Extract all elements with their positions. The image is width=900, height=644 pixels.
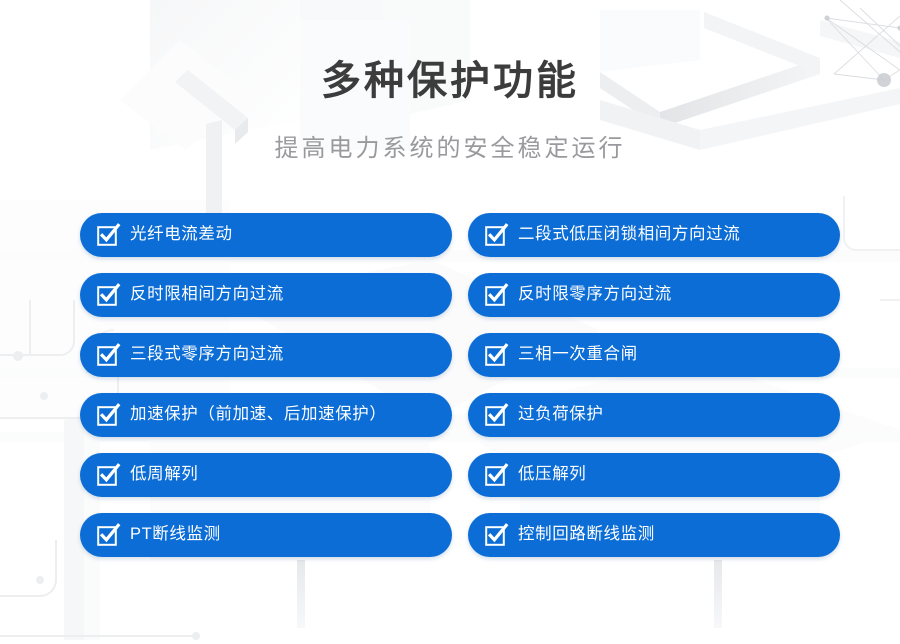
check-square-icon [485,464,507,486]
feature-label: 反时限零序方向过流 [518,286,672,304]
feature-pill-left-3[interactable]: 三段式零序方向过流 [80,333,452,377]
check-square-icon [485,344,507,366]
check-square-icon [485,224,507,246]
feature-pill-right-4[interactable]: 过负荷保护 [468,393,840,437]
feature-pill-left-5[interactable]: 低周解列 [80,453,452,497]
feature-label: 反时限相间方向过流 [130,286,284,304]
feature-pill-right-3[interactable]: 三相一次重合闸 [468,333,840,377]
feature-pill-right-2[interactable]: 反时限零序方向过流 [468,273,840,317]
promo-page: 多种保护功能 提高电力系统的安全稳定运行 光纤电流差动 二段式低压闭锁相间方向过… [0,0,900,644]
feature-pill-right-1[interactable]: 二段式低压闭锁相间方向过流 [468,213,840,257]
page-header: 多种保护功能 提高电力系统的安全稳定运行 [0,0,900,163]
feature-label: 三段式零序方向过流 [130,346,284,364]
feature-pill-left-6[interactable]: PT断线监测 [80,513,452,557]
feature-label: 三相一次重合闸 [518,346,638,364]
check-square-icon [485,404,507,426]
page-subtitle: 提高电力系统的安全稳定运行 [0,128,900,163]
feature-pill-left-2[interactable]: 反时限相间方向过流 [80,273,452,317]
check-square-icon [97,524,119,546]
feature-list: 光纤电流差动 二段式低压闭锁相间方向过流 反时限相间方向过流 反时限零序方向过流 [80,213,840,557]
feature-pill-left-1[interactable]: 光纤电流差动 [80,213,452,257]
feature-pill-right-5[interactable]: 低压解列 [468,453,840,497]
feature-pill-right-6[interactable]: 控制回路断线监测 [468,513,840,557]
feature-label: 控制回路断线监测 [518,526,655,544]
check-square-icon [97,344,119,366]
check-square-icon [97,464,119,486]
feature-label: PT断线监测 [130,526,221,544]
feature-label: 光纤电流差动 [130,226,233,244]
check-square-icon [97,224,119,246]
feature-label: 低压解列 [518,466,586,484]
check-square-icon [97,284,119,306]
check-square-icon [485,524,507,546]
feature-label: 低周解列 [130,466,198,484]
feature-label: 加速保护（前加速、后加速保护） [130,406,387,424]
check-square-icon [97,404,119,426]
feature-label: 过负荷保护 [518,406,604,424]
check-square-icon [485,284,507,306]
page-title: 多种保护功能 [0,58,900,104]
feature-pill-left-4[interactable]: 加速保护（前加速、后加速保护） [80,393,452,437]
feature-label: 二段式低压闭锁相间方向过流 [518,226,740,244]
